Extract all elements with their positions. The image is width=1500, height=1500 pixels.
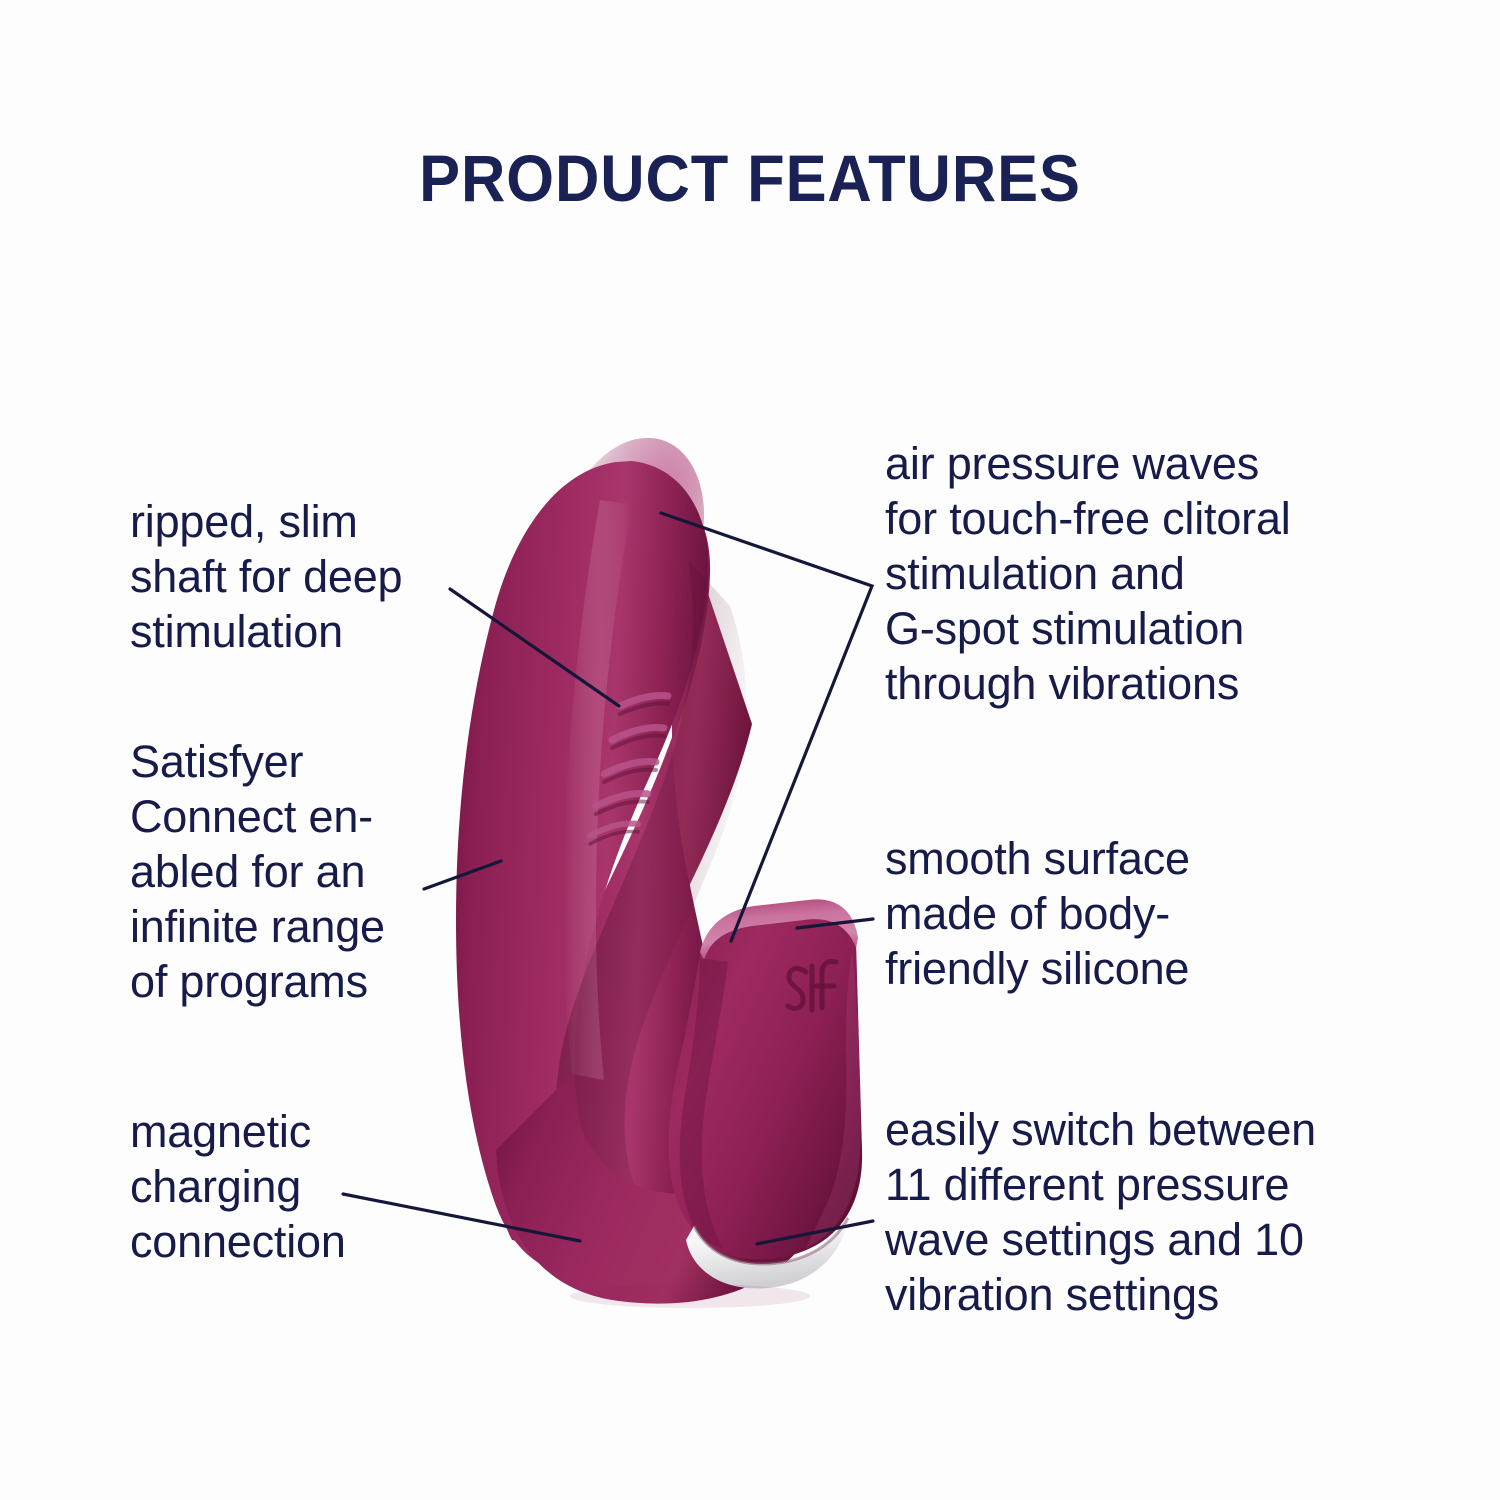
product-features-diagram: PRODUCT FEATURES	[0, 0, 1500, 1500]
callout-magnetic-charging: magnetic charging connection	[130, 1105, 460, 1270]
product-body	[456, 419, 862, 1308]
callout-pressure-vibration-settings: easily switch between 11 different press…	[885, 1103, 1395, 1323]
callout-smooth-surface: smooth surface made of body- friendly si…	[885, 832, 1355, 997]
callout-air-pressure-waves: air pressure waves for touch-free clitor…	[885, 437, 1385, 711]
product-contact-shadow	[570, 1284, 810, 1308]
callout-satisfyer-connect: Satisfyer Connect en- abled for an infin…	[130, 735, 460, 1009]
callout-ripped-shaft: ripped, slim shaft for deep stimulation	[130, 495, 470, 660]
